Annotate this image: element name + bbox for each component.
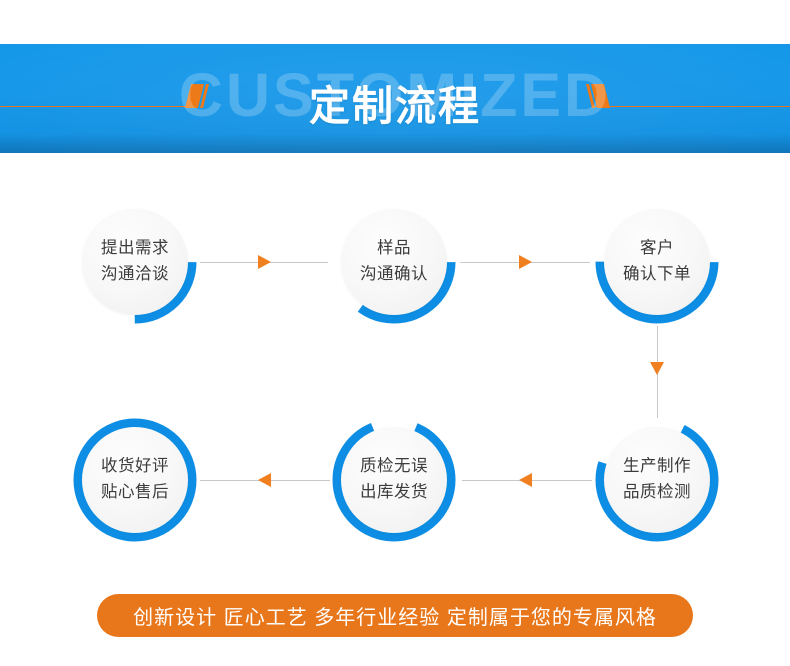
flow-step-6[interactable]: 收货好评 贴心售后 [73, 418, 197, 542]
step-6-line-1: 收货好评 [101, 454, 169, 480]
arrow-right-2-3-icon [519, 255, 532, 269]
step-5-line-1: 质检无误 [360, 454, 428, 480]
step-4-line-2: 品质检测 [623, 480, 691, 506]
step-2-line-1: 样品 [377, 236, 411, 262]
footer-slogan-text: 创新设计 匠心工艺 多年行业经验 定制属于您的专属风格 [133, 601, 657, 630]
step-3-line-2: 确认下单 [623, 262, 691, 288]
step-5-label: 质检无误 出库发货 [332, 418, 456, 542]
step-1-line-2: 沟通洽谈 [101, 262, 169, 288]
flow-step-1[interactable]: 提出需求 沟通洽谈 [73, 200, 197, 324]
step-3-label: 客户 确认下单 [595, 200, 719, 324]
customization-flow-diagram: 提出需求 沟通洽谈 样品 沟通确认 客户 确认下单 生产制作 品 [0, 0, 790, 666]
flow-step-3[interactable]: 客户 确认下单 [595, 200, 719, 324]
step-6-line-2: 贴心售后 [101, 480, 169, 506]
step-1-label: 提出需求 沟通洽谈 [73, 200, 197, 324]
arrow-left-4-5-icon [519, 473, 532, 487]
step-1-line-1: 提出需求 [101, 236, 169, 262]
footer-slogan-banner: 创新设计 匠心工艺 多年行业经验 定制属于您的专属风格 [97, 594, 693, 637]
arrow-left-5-6-icon [258, 473, 271, 487]
step-3-line-1: 客户 [640, 236, 674, 262]
flow-step-2[interactable]: 样品 沟通确认 [332, 200, 456, 324]
step-4-line-1: 生产制作 [623, 454, 691, 480]
flow-step-4[interactable]: 生产制作 品质检测 [595, 418, 719, 542]
step-4-label: 生产制作 品质检测 [595, 418, 719, 542]
step-5-line-2: 出库发货 [360, 480, 428, 506]
step-2-label: 样品 沟通确认 [332, 200, 456, 324]
arrow-down-3-4-icon [650, 362, 664, 375]
flow-step-5[interactable]: 质检无误 出库发货 [332, 418, 456, 542]
step-2-line-2: 沟通确认 [360, 262, 428, 288]
arrow-right-1-2-icon [258, 255, 271, 269]
step-6-label: 收货好评 贴心售后 [73, 418, 197, 542]
